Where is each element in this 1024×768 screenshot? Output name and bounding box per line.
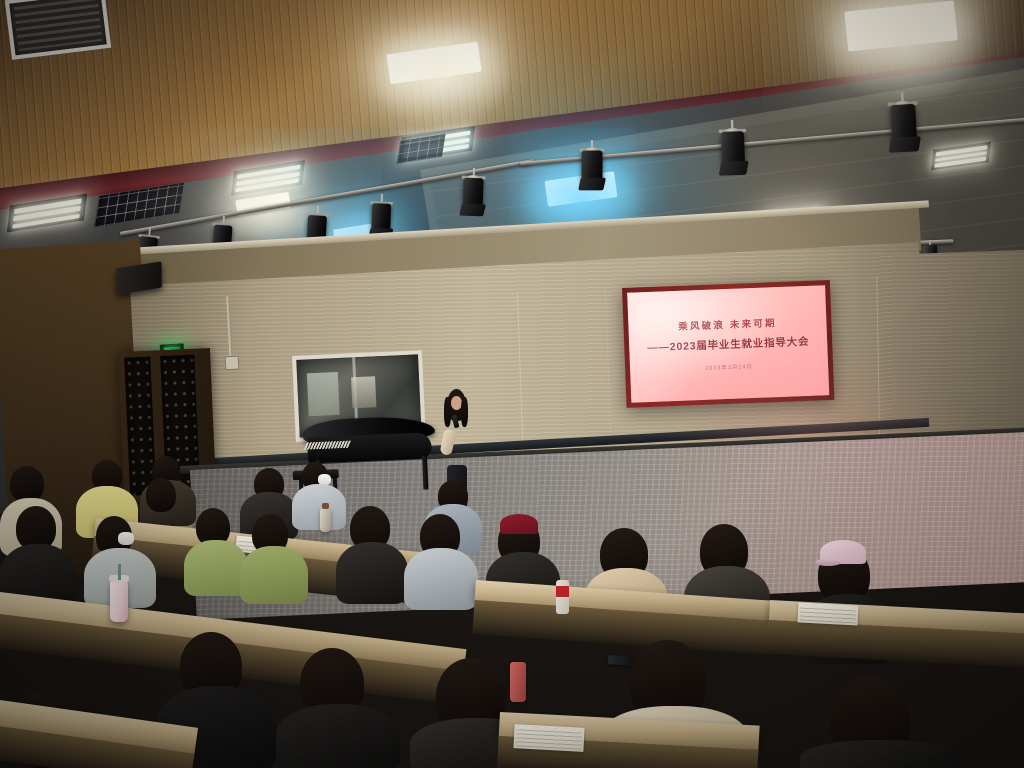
audience-body (336, 542, 408, 604)
smartphone[interactable] (608, 655, 635, 666)
audience-body (240, 546, 308, 604)
water-bottle (320, 508, 331, 532)
audience-head (10, 466, 44, 502)
notebook-paper (798, 602, 859, 625)
projection-screen: 乘风破浪 未来可期 ——2023届毕业生就业指导大会 2023年3月14日 (622, 280, 834, 408)
audience-body (404, 548, 478, 610)
slide-title: 乘风破浪 未来可期 (678, 315, 777, 333)
slide-date: 2023年3月14日 (705, 362, 753, 372)
face-mask (118, 532, 134, 545)
projection-screen-surface: 乘风破浪 未来可期 ——2023届毕业生就业指导大会 2023年3月14日 (627, 285, 829, 403)
audience-head (146, 478, 176, 512)
slide-subtitle: ——2023届毕业生就业指导大会 (647, 334, 810, 355)
auditorium-photo: 乘风破浪 未来可期 ——2023届毕业生就业指导大会 2023年3月14日 (0, 0, 1024, 768)
wall-electrical-box (225, 356, 240, 371)
water-bottle (510, 662, 526, 702)
audience-body (184, 540, 248, 596)
red-label-bottle (556, 580, 569, 614)
audience-body (276, 704, 400, 768)
audience-body (292, 484, 346, 530)
pink-tumbler (110, 580, 128, 622)
pink-cap (820, 540, 866, 564)
audience-body (800, 740, 960, 768)
notebook-paper (513, 724, 584, 752)
pink-cap (500, 514, 538, 534)
